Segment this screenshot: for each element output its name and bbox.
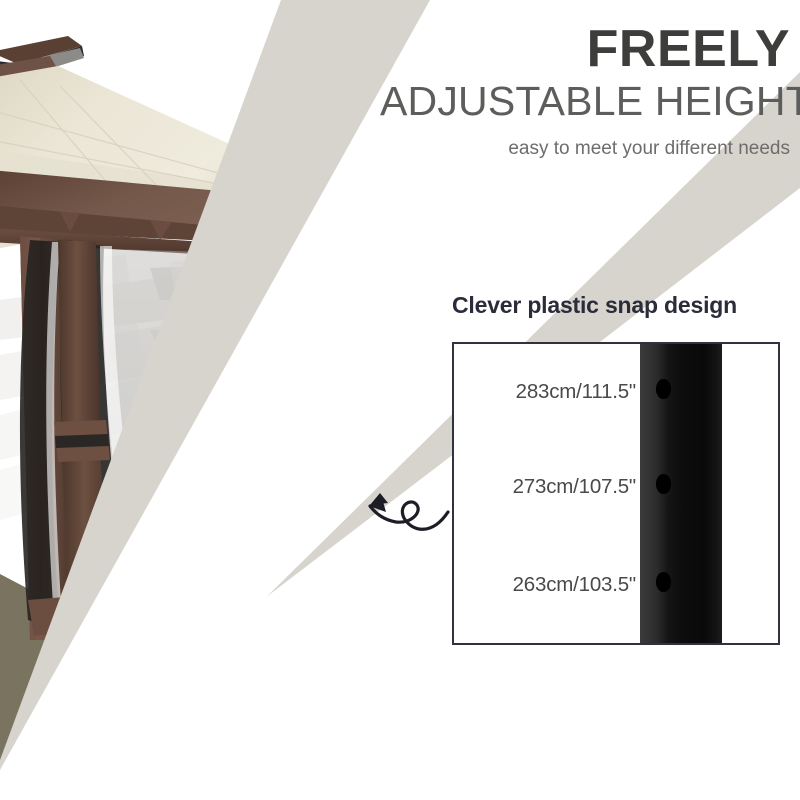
product-marketing-image: FREELY ADJUSTABLE HEIGHT easy to meet yo…	[0, 0, 800, 800]
curved-arrow-icon	[0, 0, 800, 800]
